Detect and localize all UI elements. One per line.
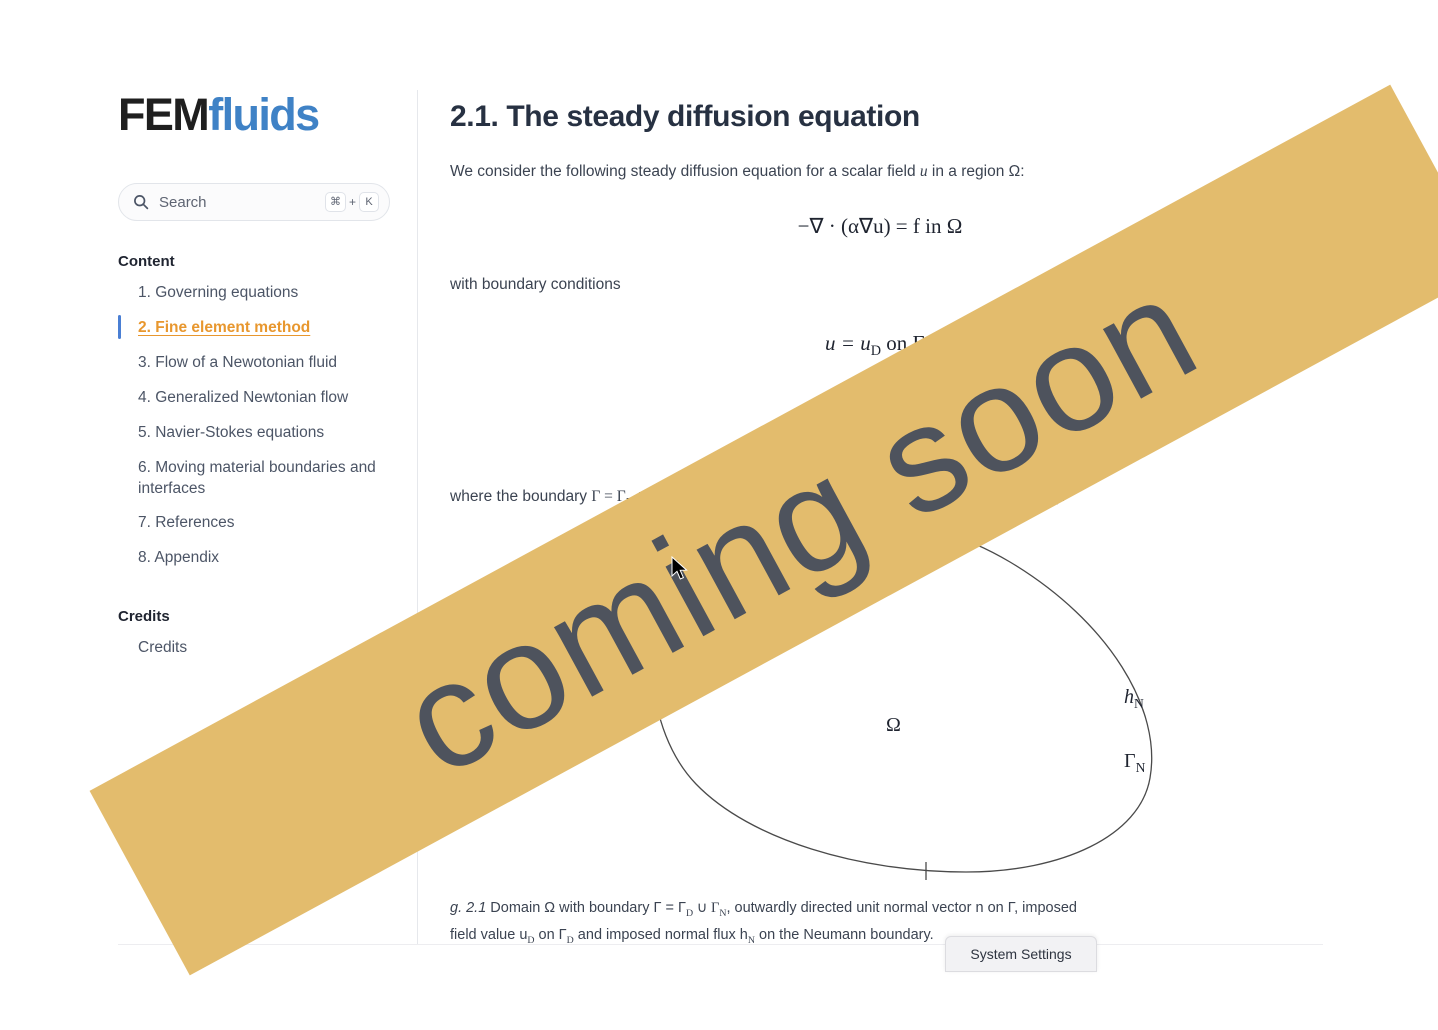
figure-cross-reference-link[interactable]: g. 2.1 — [1017, 488, 1056, 505]
figure-caption-text-2c: and imposed normal flux h — [574, 927, 748, 943]
figure-caption-line-2: field value uD on ΓD and imposed normal … — [450, 923, 1310, 950]
sidebar-item-newotonian-fluid[interactable]: 3. Flow of a Newotonian fluid — [118, 346, 386, 381]
system-settings-label: System Settings — [970, 946, 1071, 962]
where-text-after: ). — [1056, 488, 1065, 505]
equation-2-mid-sub: D — [925, 343, 935, 359]
figure-label-h-n: hN — [1124, 686, 1144, 712]
where-union: ∪ Γ — [633, 488, 661, 505]
where-text-before: where the boundary — [450, 488, 591, 505]
shortcut-key-k: K — [359, 192, 379, 212]
sidebar-item-governing-equations[interactable]: 1. Governing equations — [118, 276, 386, 311]
figure-h-n-base: h — [1124, 686, 1134, 708]
where-text-middle: has been s — [669, 488, 749, 505]
equation-steady-diffusion: −∇ · (α∇u) = f in Ω 1) — [450, 214, 1310, 239]
figure-caption-union: ∪ Γ — [693, 900, 719, 916]
boundary-conditions-lead: with boundary conditions — [450, 273, 1310, 297]
site-logo[interactable]: FEMfluids — [118, 92, 418, 137]
sidebar-item-navier-stokes[interactable]: 5. Navier-Stokes equations — [118, 416, 386, 451]
where-paragraph: where the boundary Γ = ΓD ∪ ΓN has been … — [450, 485, 1310, 511]
equation-neumann-bc: −α∂u∂n = −n · α∇u = h — [450, 402, 1310, 445]
search-placeholder: Search — [159, 194, 325, 211]
domain-diagram-svg — [450, 528, 1310, 888]
figure-label-n: n — [688, 534, 698, 557]
sidebar: FEMfluids Search ⌘ + K Content 1. Govern… — [118, 92, 418, 952]
search-icon — [133, 194, 149, 210]
equation-3-part-1: −α — [785, 409, 810, 433]
figure-caption-line-1: g. 2.1 Domain Ω with boundary Γ = ΓD ∪ Γ… — [450, 896, 1310, 923]
sidebar-item-appendix[interactable]: 8. Appendix — [118, 541, 386, 576]
where-gamma-expr: Γ = Γ — [591, 488, 625, 505]
intro-text-after: in a region Ω: — [928, 163, 1025, 180]
sidebar-divider — [417, 90, 418, 945]
system-settings-popup[interactable]: System Settings — [945, 936, 1097, 972]
sidebar-heading-content: Content — [118, 253, 418, 270]
sidebar-item-fine-element-method[interactable]: 2. Fine element method — [118, 311, 386, 346]
where-gamma-sub-n: N — [661, 497, 669, 508]
equation-3-fraction: ∂u∂n — [812, 402, 837, 445]
figure-label-gamma-n: ΓN — [1124, 750, 1145, 776]
page-title: 2.1. The steady diffusion equation — [450, 100, 1310, 134]
sidebar-item-moving-material-boundaries[interactable]: 6. Moving material boundaries and interf… — [118, 451, 386, 507]
logo-text-primary: FEM — [118, 89, 208, 140]
figure-caption: g. 2.1 Domain Ω with boundary Γ = ΓD ∪ Γ… — [450, 896, 1310, 950]
figure-gamma-n-base: Γ — [1124, 750, 1136, 772]
equation-2-lhs-sub: D — [871, 343, 881, 359]
equation-2-lhs: u = u — [825, 331, 871, 355]
content-bottom-edge — [118, 944, 1323, 945]
sidebar-item-credits[interactable]: Credits — [118, 631, 386, 666]
figure-caption-text-1: Domain Ω with boundary Γ = Γ — [486, 900, 686, 916]
equation-3-part-2: = −n · α∇u = h — [839, 409, 975, 433]
figure-caption-text-2d: on the Neumann boundary. — [755, 927, 934, 943]
equation-1-body: −∇ · (α∇u) = f in Ω — [798, 214, 963, 238]
domain-boundary-curve — [653, 528, 1152, 872]
figure-caption-number: g. 2.1 — [450, 900, 486, 916]
intro-paragraph: We consider the following steady diffusi… — [450, 160, 1310, 184]
figure-caption-text-2a: field value u — [450, 927, 527, 943]
figure-caption-text-2b: on Γ — [535, 927, 567, 943]
equation-3-denominator: ∂n — [812, 423, 837, 445]
sidebar-item-generalized-newtonian-flow[interactable]: 4. Generalized Newtonian flow — [118, 381, 386, 416]
logo-text-secondary: fluids — [208, 89, 318, 140]
figure-caption-text-1b: , outwardly directed unit normal vector … — [726, 900, 1077, 916]
domain-figure: n Ω hN ΓN — [450, 528, 1310, 888]
equation-dirichlet-bc: u = uD on ΓD — [450, 331, 1310, 360]
sidebar-item-references[interactable]: 7. References — [118, 506, 386, 541]
main-content: 2.1. The steady diffusion equation We co… — [450, 100, 1310, 511]
intro-text-before: We consider the following steady diffusi… — [450, 163, 920, 180]
intro-symbol-u: u — [920, 163, 928, 180]
figure-label-omega: Ω — [886, 714, 901, 737]
equation-3-numerator: ∂u — [812, 402, 837, 423]
equation-2-mid: on Γ — [881, 331, 925, 355]
page-root: FEMfluids Search ⌘ + K Content 1. Govern… — [0, 0, 1438, 1030]
figure-gamma-n-sub: N — [1136, 760, 1146, 775]
search-input[interactable]: Search ⌘ + K — [118, 183, 390, 221]
figure-h-n-sub: N — [1134, 696, 1144, 711]
sidebar-heading-credits: Credits — [118, 608, 418, 625]
equation-1-number: 1) — [1297, 218, 1310, 235]
shortcut-key-command: ⌘ — [325, 192, 346, 212]
shortcut-plus: + — [349, 195, 356, 209]
